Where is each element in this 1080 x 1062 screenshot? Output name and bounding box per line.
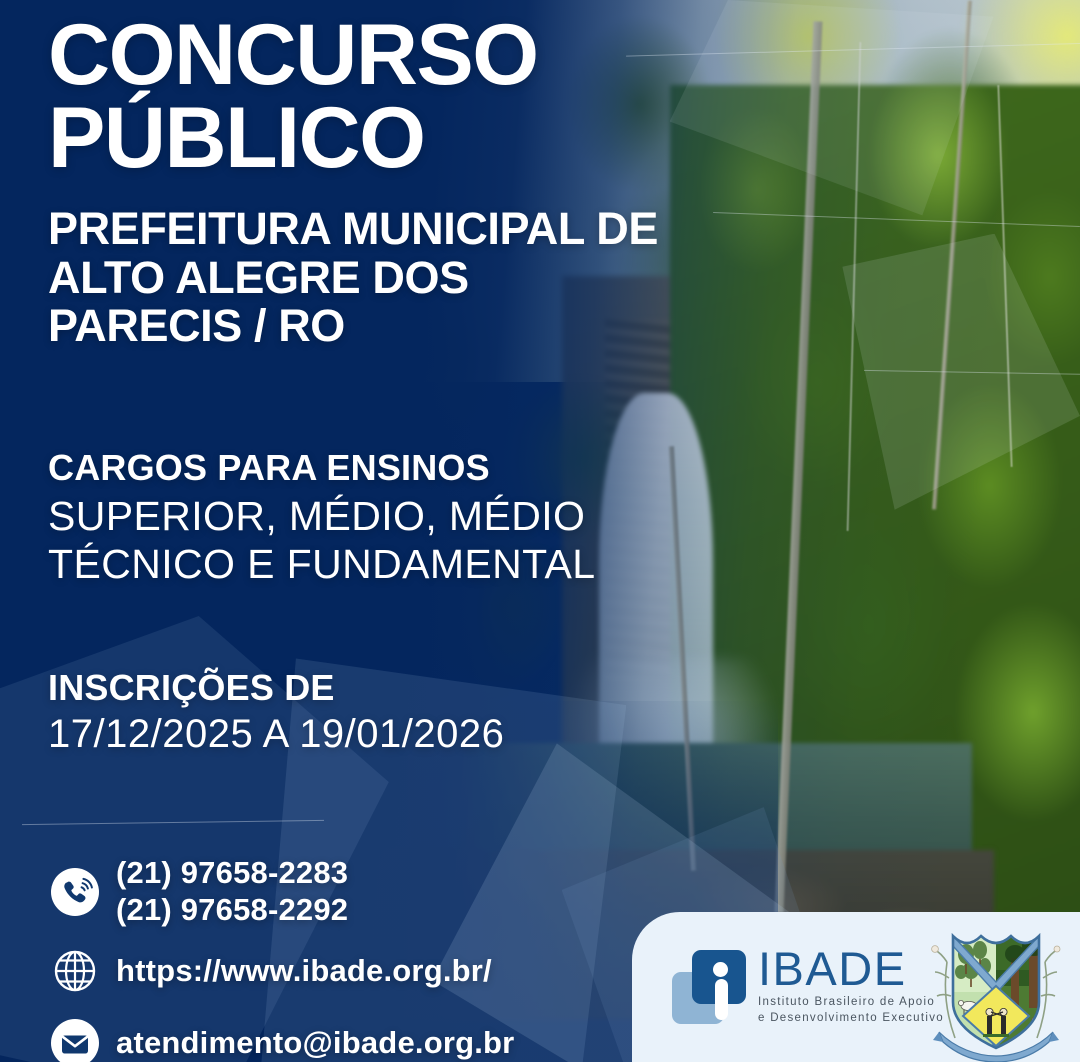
positions-levels-line-2: TÉCNICO E FUNDAMENTAL bbox=[48, 540, 688, 588]
ibade-tagline-line-2: e Desenvolvimento Executivo bbox=[758, 1011, 944, 1027]
municipal-coat-of-arms-icon bbox=[925, 920, 1067, 1062]
registration-heading: INSCRIÇÕES DE bbox=[48, 668, 335, 708]
concurso-publico-poster: CONCURSO PÚBLICO PREFEITURA MUNICIPAL DE… bbox=[0, 0, 1080, 1062]
poster-content: CONCURSO PÚBLICO PREFEITURA MUNICIPAL DE… bbox=[0, 0, 1080, 1062]
ibade-wordmark: IBADE Instituto Brasileiro de Apoio e De… bbox=[758, 947, 944, 1027]
ibade-logo: IBADE Instituto Brasileiro de Apoio e De… bbox=[672, 947, 944, 1027]
website-url[interactable]: https://www.ibade.org.br/ bbox=[116, 953, 492, 990]
phone-numbers: (21) 97658-2283 (21) 97658-2292 bbox=[116, 855, 348, 928]
email-icon bbox=[46, 1014, 104, 1062]
registration-period: 17/12/2025 A 19/01/2026 bbox=[48, 712, 504, 756]
globe-icon bbox=[46, 942, 104, 1000]
phone-icon bbox=[46, 863, 104, 921]
contact-row-website[interactable]: https://www.ibade.org.br/ bbox=[46, 942, 606, 1000]
ibade-name: IBADE bbox=[758, 947, 944, 990]
ibade-mark-front-square bbox=[692, 950, 746, 1004]
positions-levels-line-1: SUPERIOR, MÉDIO, MÉDIO bbox=[48, 492, 688, 540]
ibade-mark-dot bbox=[713, 962, 728, 977]
ibade-mark-stem bbox=[715, 979, 728, 1020]
email-address[interactable]: atendimento@ibade.org.br bbox=[116, 1025, 514, 1062]
poster-subtitle: PREFEITURA MUNICIPAL DE ALTO ALEGRE DOS … bbox=[48, 205, 668, 351]
ibade-tagline: Instituto Brasileiro de Apoio e Desenvol… bbox=[758, 995, 944, 1027]
phone-number-2: (21) 97658-2292 bbox=[116, 892, 348, 929]
ibade-logo-icon bbox=[672, 950, 746, 1024]
contact-block: (21) 97658-2283 (21) 97658-2292 https://… bbox=[46, 855, 606, 1062]
contact-row-phone: (21) 97658-2283 (21) 97658-2292 bbox=[46, 855, 606, 928]
poster-title: CONCURSO PÚBLICO bbox=[48, 14, 668, 181]
positions-heading: CARGOS PARA ENSINOS bbox=[48, 448, 688, 488]
phone-number-1: (21) 97658-2283 bbox=[116, 855, 348, 892]
positions-levels: SUPERIOR, MÉDIO, MÉDIO TÉCNICO E FUNDAME… bbox=[48, 492, 688, 589]
ibade-tagline-line-1: Instituto Brasileiro de Apoio bbox=[758, 995, 944, 1011]
contact-row-email[interactable]: atendimento@ibade.org.br bbox=[46, 1014, 606, 1062]
